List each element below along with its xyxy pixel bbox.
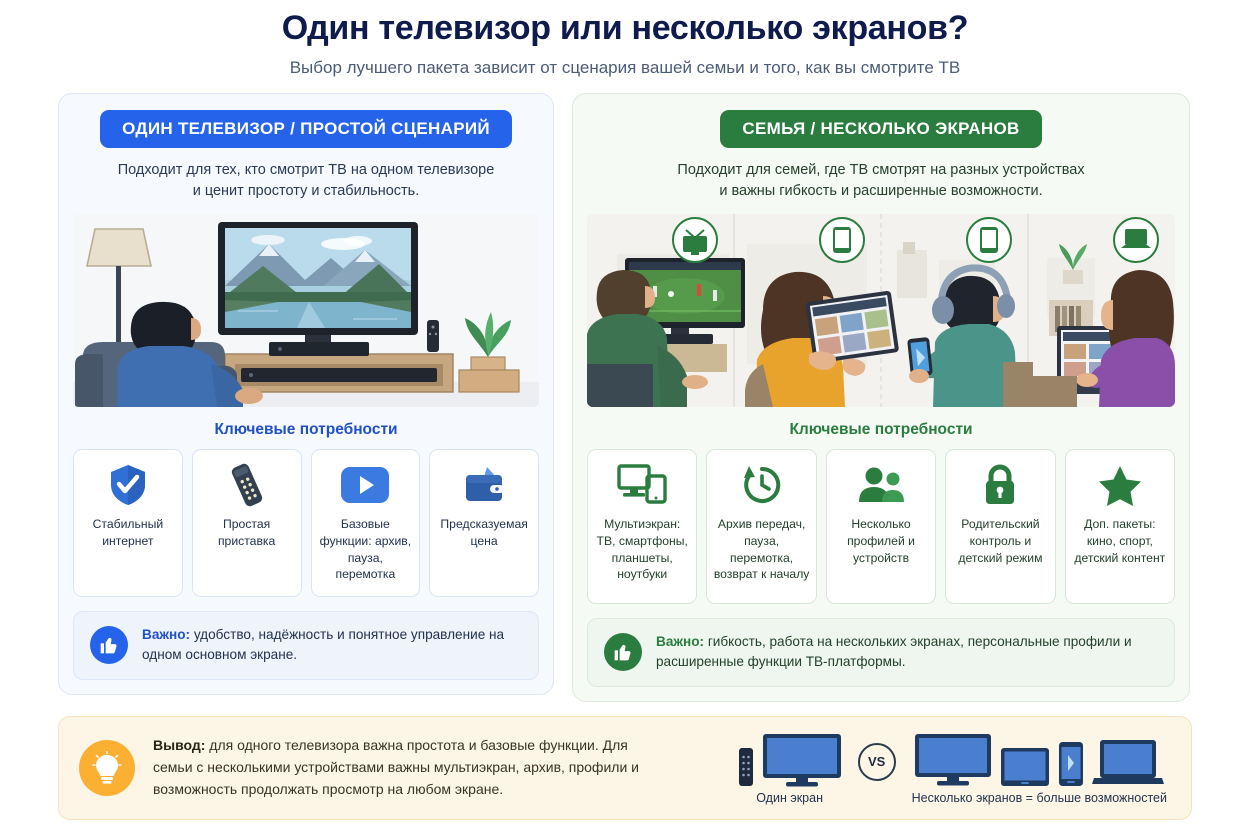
wallet-icon [462, 462, 506, 508]
panel-family-multiscreen: СЕМЬЯ / НЕСКОЛЬКО ЭКРАНОВ Подходит для с… [572, 93, 1190, 702]
page-title: Один телевизор или несколько экранов? [0, 8, 1250, 49]
conclusion-text: Вывод: для одного телевизора важна прост… [153, 735, 663, 800]
card-stable-internet[interactable]: Стабильный интернет [73, 449, 183, 597]
lightbulb-icon [79, 740, 135, 796]
left-important-callout: Важно: удобство, надёжность и понятное у… [73, 611, 539, 680]
comparison-panels: ОДИН ТЕЛЕВИЗОР / ПРОСТОЙ СЦЕНАРИЙ Подход… [0, 79, 1250, 702]
left-callout-text: Важно: удобство, надёжность и понятное у… [142, 625, 522, 666]
card-label: Простая приставка [198, 516, 296, 550]
left-badge-wrap: ОДИН ТЕЛЕВИЗОР / ПРОСТОЙ СЦЕНАРИЙ [73, 110, 539, 148]
card-archive-pause[interactable]: Архив передач, пауза, перемотка, возврат… [706, 449, 816, 604]
conclusion-lead: Вывод: [153, 737, 205, 753]
left-panel-description: Подходит для тех, кто смотрит ТВ на одно… [73, 160, 539, 202]
remote-control-icon [226, 462, 268, 508]
card-profiles-devices[interactable]: Несколько профилей и устройств [826, 449, 936, 604]
single-screen-devices [738, 731, 842, 787]
laptop-icon [1092, 739, 1164, 787]
right-callout-body: гибкость, работа на нескольких экранах, … [656, 634, 1132, 669]
left-panel-badge: ОДИН ТЕЛЕВИЗОР / ПРОСТОЙ СЦЕНАРИЙ [100, 110, 512, 148]
left-illustration [73, 214, 539, 407]
multiscreen-icon [617, 462, 667, 508]
card-basic-functions[interactable]: Базовые функции: архив, пауза, перемотка [311, 449, 421, 597]
right-needs-title: Ключевые потребности [587, 421, 1175, 439]
shield-check-icon [108, 462, 148, 508]
right-important-callout: Важно: гибкость, работа на нескольких эк… [587, 618, 1175, 687]
card-label: Архив передач, пауза, перемотка, возврат… [712, 516, 810, 583]
card-extra-packages[interactable]: Доп. пакеты: кино, спорт, детский контен… [1065, 449, 1175, 604]
vs-badge: VS [858, 743, 896, 781]
card-predictable-price[interactable]: Предсказуемая цена [429, 449, 539, 597]
right-badge-wrap: СЕМЬЯ / НЕСКОЛЬКО ЭКРАНОВ [587, 110, 1175, 148]
right-callout-text: Важно: гибкость, работа на нескольких эк… [656, 632, 1158, 673]
right-panel-description: Подходит для семей, где ТВ смотрят на ра… [587, 160, 1175, 202]
card-label: Доп. пакеты: кино, спорт, детский контен… [1071, 516, 1169, 566]
multi-screen-group: Несколько экранов = больше возможностей [912, 731, 1167, 805]
card-label: Мультиэкран: ТВ, смартфоны, планшеты, но… [593, 516, 691, 583]
conclusion-bar: Вывод: для одного телевизора важна прост… [58, 716, 1192, 820]
phone-icon [1058, 741, 1084, 787]
left-needs-cards: Стабильный интернет [73, 449, 539, 597]
card-simple-settop-box[interactable]: Простая приставка [192, 449, 302, 597]
right-desc-line-1: Подходит для семей, где ТВ смотрят на ра… [587, 160, 1175, 181]
thumbs-up-icon [604, 633, 642, 671]
multi-screen-caption: Несколько экранов = больше возможностей [912, 791, 1167, 805]
left-desc-line-2: и ценит простоту и стабильность. [73, 181, 539, 202]
play-button-icon [340, 462, 390, 508]
right-desc-line-2: и важны гибкость и расширенные возможнос… [587, 181, 1175, 202]
remote-control-icon [738, 747, 754, 787]
card-label: Несколько профилей и устройств [832, 516, 930, 566]
single-screen-group: Один экран [738, 731, 842, 805]
thumbs-up-icon [90, 626, 128, 664]
right-callout-lead: Важно: [656, 634, 704, 649]
star-icon [1098, 462, 1142, 508]
card-label: Родительский контроль и детский режим [951, 516, 1049, 566]
left-callout-body: удобство, надёжность и понятное управлен… [142, 627, 504, 662]
tablet-icon [1000, 747, 1050, 787]
card-multiscreen[interactable]: Мультиэкран: ТВ, смартфоны, планшеты, но… [587, 449, 697, 604]
right-panel-badge: СЕМЬЯ / НЕСКОЛЬКО ЭКРАНОВ [720, 110, 1041, 148]
page-subtitle: Выбор лучшего пакета зависит от сценария… [0, 57, 1250, 79]
card-label: Предсказуемая цена [435, 516, 533, 550]
left-needs-title: Ключевые потребности [73, 421, 539, 439]
conclusion-body: для одного телевизора важна простота и б… [153, 737, 639, 796]
left-desc-line-1: Подходит для тех, кто смотрит ТВ на одно… [73, 160, 539, 181]
card-label: Стабильный интернет [79, 516, 177, 550]
device-comparison: Один экран VS [681, 731, 1171, 805]
single-screen-caption: Один экран [756, 791, 823, 805]
tv-monitor-icon [762, 733, 842, 787]
right-illustration [587, 214, 1175, 407]
users-icon [857, 462, 905, 508]
clock-rewind-icon [740, 462, 784, 508]
multi-screen-devices [914, 731, 1164, 787]
card-parental-control[interactable]: Родительский контроль и детский режим [945, 449, 1055, 604]
right-needs-cards: Мультиэкран: ТВ, смартфоны, планшеты, но… [587, 449, 1175, 604]
lock-icon [980, 462, 1020, 508]
left-callout-lead: Важно: [142, 627, 190, 642]
panel-single-tv: ОДИН ТЕЛЕВИЗОР / ПРОСТОЙ СЦЕНАРИЙ Подход… [58, 93, 554, 695]
tv-monitor-icon [914, 733, 992, 787]
card-label: Базовые функции: архив, пауза, перемотка [317, 516, 415, 583]
page-header: Один телевизор или несколько экранов? Вы… [0, 0, 1250, 79]
